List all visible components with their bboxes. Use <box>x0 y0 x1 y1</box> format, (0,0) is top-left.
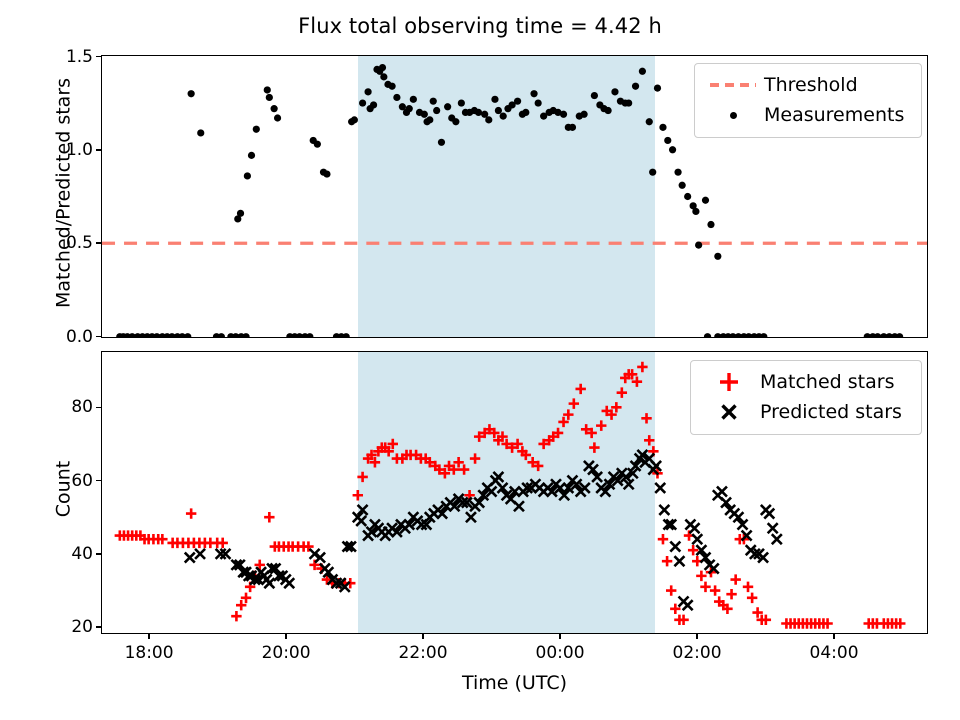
x-marker-icon <box>702 397 756 427</box>
page-title: Flux total observing time = 4.42 h <box>0 14 960 38</box>
legend-item-measurements: Measurements <box>706 100 910 130</box>
x-tick-label: 04:00 <box>810 643 859 663</box>
y-tick-mark <box>96 626 101 628</box>
y-tick-label: 20 <box>39 617 93 637</box>
y-tick-label: 40 <box>39 544 93 564</box>
y-tick-label: 1.5 <box>39 47 93 67</box>
legend-label-matched-stars: Matched stars <box>756 371 894 393</box>
y-tick-label: 1.0 <box>39 140 93 160</box>
y-tick-mark <box>96 407 101 409</box>
plus-marker-icon <box>702 367 756 397</box>
legend-item-threshold: Threshold <box>706 70 910 100</box>
y-tick-mark <box>96 56 101 58</box>
x-tick-mark <box>148 634 150 639</box>
x-tick-mark <box>285 634 287 639</box>
legend-label-threshold: Threshold <box>760 74 858 96</box>
y-tick-label: 0.0 <box>39 327 93 347</box>
x-tick-label: 00:00 <box>536 643 585 663</box>
y-tick-mark <box>96 336 101 338</box>
dashed-line-icon <box>706 70 760 100</box>
x-tick-label: 20:00 <box>262 643 311 663</box>
figure-canvas: Flux total observing time = 4.42 h Match… <box>0 0 960 720</box>
y-tick-label: 60 <box>39 471 93 491</box>
legend-item-predicted-stars: Predicted stars <box>702 397 910 427</box>
legend-label-predicted-stars: Predicted stars <box>756 401 902 423</box>
y-tick-label: 80 <box>39 397 93 417</box>
x-tick-label: 22:00 <box>399 643 448 663</box>
legend-label-measurements: Measurements <box>760 104 904 126</box>
x-tick-mark <box>559 634 561 639</box>
y-tick-mark <box>96 242 101 244</box>
y-tick-mark <box>96 149 101 151</box>
x-tick-label: 02:00 <box>673 643 722 663</box>
x-tick-mark <box>833 634 835 639</box>
y-tick-mark <box>96 553 101 555</box>
count-legend: Matched stars Predicted stars <box>690 360 922 435</box>
x-tick-mark <box>696 634 698 639</box>
ratio-axis-label: Matched/Predicted stars <box>53 52 75 335</box>
ratio-legend: Threshold Measurements <box>694 63 922 138</box>
legend-item-matched-stars: Matched stars <box>702 367 910 397</box>
dot-marker-icon <box>706 100 760 130</box>
x-tick-mark <box>422 634 424 639</box>
x-axis-label: Time (UTC) <box>101 672 928 694</box>
y-tick-label: 0.5 <box>39 233 93 253</box>
y-tick-mark <box>96 480 101 482</box>
x-tick-label: 18:00 <box>125 643 174 663</box>
